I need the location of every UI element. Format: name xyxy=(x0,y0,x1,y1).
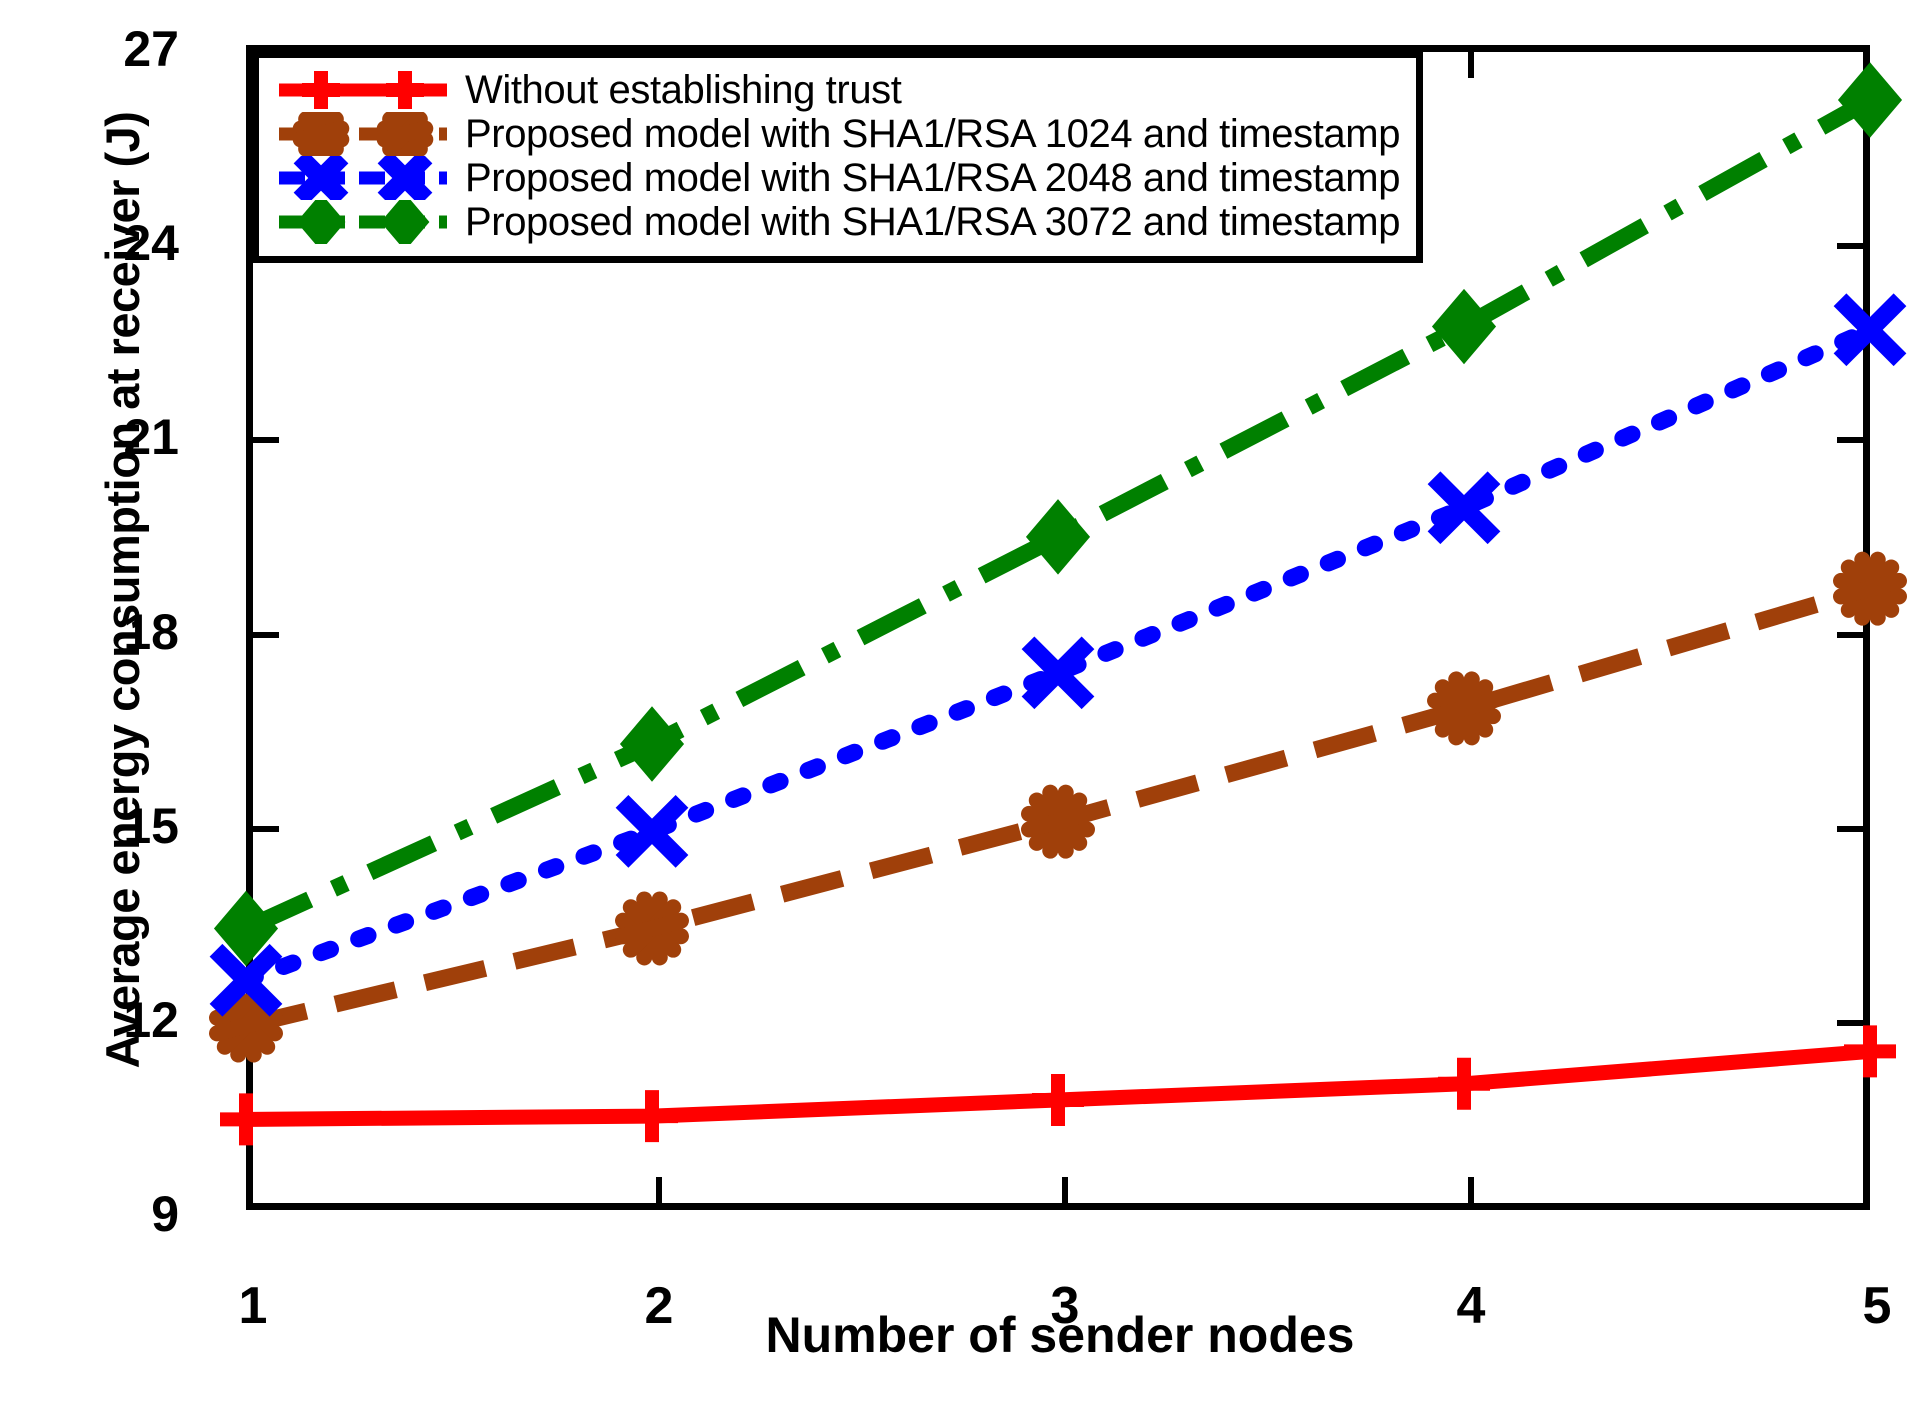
x-axis-tick-label: 4 xyxy=(1411,1280,1531,1332)
legend-item-3[interactable]: Proposed model with SHA1/RSA 3072 and ti… xyxy=(273,200,1400,244)
y-axis-tick-label: 9 xyxy=(29,1189,179,1239)
data-point-plus xyxy=(626,1090,678,1142)
y-axis-tick-label: 24 xyxy=(29,218,179,268)
data-point-asterisk xyxy=(385,114,426,155)
data-point-diamond xyxy=(303,201,339,243)
data-point-asterisk xyxy=(1435,679,1493,737)
x-axis-tick-label: 1 xyxy=(193,1280,313,1332)
data-point-plus xyxy=(1438,1058,1490,1110)
y-axis-tick-label: 12 xyxy=(29,995,179,1045)
legend-swatch-plus-icon xyxy=(273,68,453,112)
legend-item-0[interactable]: Without establishing trust xyxy=(273,68,1400,112)
data-point-diamond xyxy=(1845,70,1896,130)
data-point-diamond xyxy=(221,898,272,958)
data-point-asterisk xyxy=(1841,560,1899,618)
data-point-plus xyxy=(1844,1025,1896,1077)
data-point-asterisk xyxy=(623,899,681,957)
data-point-diamond xyxy=(1439,297,1490,357)
x-axis-tick-label: 5 xyxy=(1817,1280,1917,1332)
series-2 xyxy=(216,300,1900,1010)
series-1 xyxy=(217,560,1899,1055)
data-point-plus xyxy=(220,1093,272,1145)
legend-label: Proposed model with SHA1/RSA 3072 and ti… xyxy=(453,200,1400,245)
data-point-plus xyxy=(386,71,424,109)
data-point-asterisk xyxy=(301,114,342,155)
data-point-plus xyxy=(302,71,340,109)
y-axis-tick-label: 27 xyxy=(29,24,179,74)
y-axis-tick-label: 15 xyxy=(29,801,179,851)
legend-label: Proposed model with SHA1/RSA 1024 and ti… xyxy=(453,112,1400,157)
y-axis-tick-label: 21 xyxy=(29,412,179,462)
y-axis-tick-label: 18 xyxy=(29,607,179,657)
x-axis-tick-label: 2 xyxy=(599,1280,719,1332)
series-0 xyxy=(220,1025,1896,1145)
legend-item-1[interactable]: Proposed model with SHA1/RSA 1024 and ti… xyxy=(273,112,1400,156)
legend: Without establishing trustProposed model… xyxy=(252,51,1423,263)
legend-label: Proposed model with SHA1/RSA 2048 and ti… xyxy=(453,156,1400,201)
data-point-asterisk xyxy=(1029,793,1087,851)
data-point-diamond xyxy=(387,201,423,243)
data-point-diamond xyxy=(1033,507,1084,567)
data-point-plus xyxy=(1032,1074,1084,1126)
legend-label: Without establishing trust xyxy=(453,68,901,113)
legend-swatch-cross-icon xyxy=(273,156,453,200)
legend-item-2[interactable]: Proposed model with SHA1/RSA 2048 and ti… xyxy=(273,156,1400,200)
legend-swatch-asterisk-icon xyxy=(273,112,453,156)
legend-swatch-diamond-icon xyxy=(273,200,453,244)
data-point-diamond xyxy=(627,714,678,774)
x-axis-tick-label: 3 xyxy=(1005,1280,1125,1332)
chart-figure: Average energy consumption at receiver (… xyxy=(0,0,1917,1409)
